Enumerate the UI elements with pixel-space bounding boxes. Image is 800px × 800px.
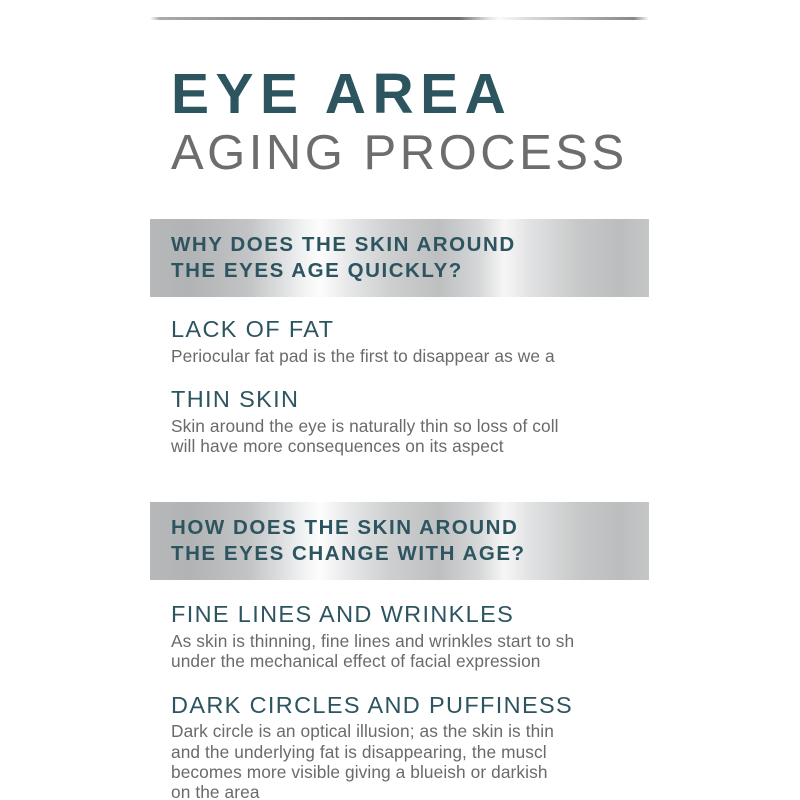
section-1-items: LACK OF FAT Periocular fat pad is the fi… (171, 316, 649, 457)
list-item: THIN SKIN Skin around the eye is natural… (171, 386, 649, 457)
page-title: EYE AREA (171, 66, 641, 123)
title-block: EYE AREA AGING PROCESS (171, 66, 641, 180)
section-banner-1: WHY DOES THE SKIN AROUND THE EYES AGE QU… (150, 219, 649, 297)
item-body: As skin is thinning, fine lines and wrin… (171, 631, 649, 672)
document-page: EYE AREA AGING PROCESS WHY DOES THE SKIN… (0, 0, 800, 800)
item-body: Skin around the eye is naturally thin so… (171, 416, 649, 457)
item-body: Dark circle is an optical illusion; as t… (171, 721, 649, 800)
item-heading: LACK OF FAT (171, 316, 649, 344)
list-item: LACK OF FAT Periocular fat pad is the fi… (171, 316, 649, 366)
item-body: Periocular fat pad is the first to disap… (171, 346, 649, 366)
item-heading: DARK CIRCLES AND PUFFINESS (171, 692, 649, 720)
section-banner-2-title: HOW DOES THE SKIN AROUND THE EYES CHANGE… (150, 515, 526, 567)
item-heading: FINE LINES AND WRINKLES (171, 601, 649, 629)
list-item: FINE LINES AND WRINKLES As skin is thinn… (171, 601, 649, 672)
metallic-divider-rule (150, 17, 649, 20)
page-subtitle: AGING PROCESS (171, 128, 641, 180)
content-column: EYE AREA AGING PROCESS WHY DOES THE SKIN… (150, 0, 649, 800)
section-banner-2: HOW DOES THE SKIN AROUND THE EYES CHANGE… (150, 502, 649, 580)
section-banner-1-title: WHY DOES THE SKIN AROUND THE EYES AGE QU… (150, 232, 516, 284)
item-heading: THIN SKIN (171, 386, 649, 414)
section-2-items: FINE LINES AND WRINKLES As skin is thinn… (171, 601, 649, 800)
list-item: DARK CIRCLES AND PUFFINESS Dark circle i… (171, 692, 649, 800)
